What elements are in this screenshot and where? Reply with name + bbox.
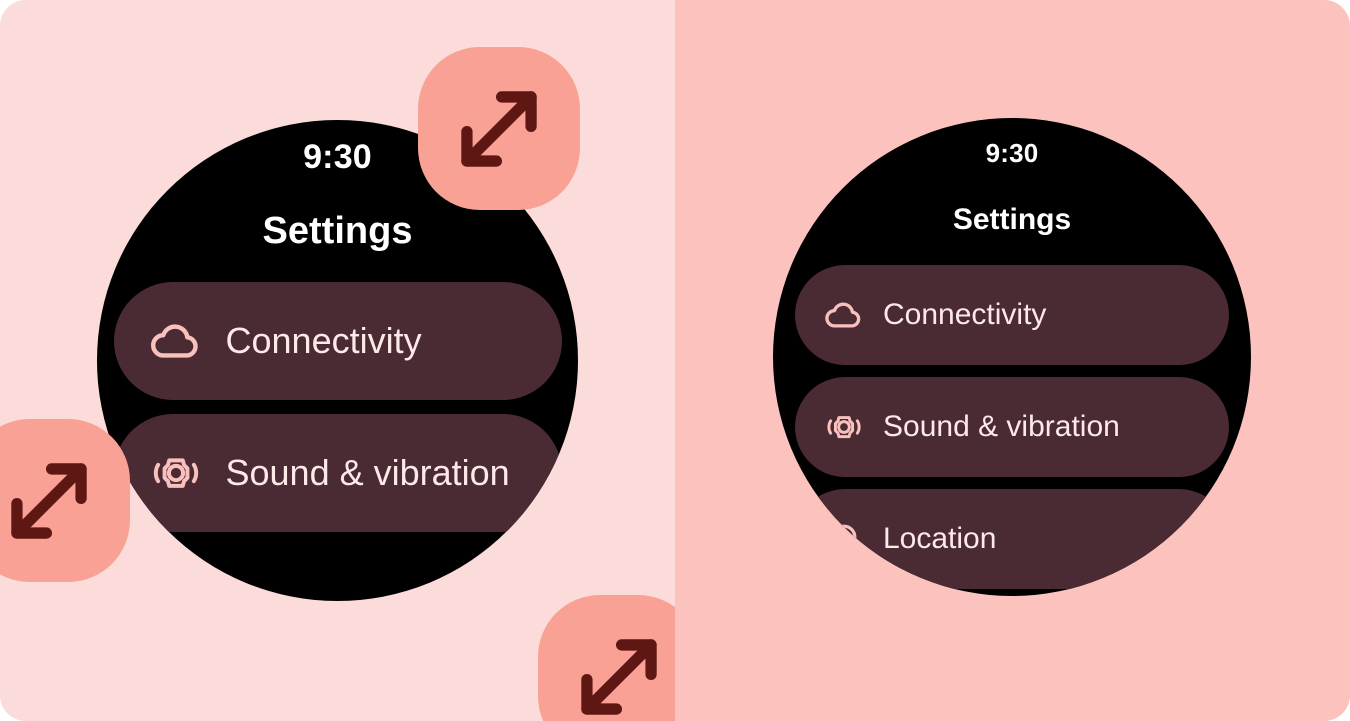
resize-diagonal-icon <box>0 449 101 553</box>
left-panel: 9:30 Settings Connectivity <box>0 0 675 721</box>
list-item-location[interactable]: Location <box>795 489 1229 589</box>
list-item-label: Sound & vibration <box>226 452 510 494</box>
settings-list: Connectivity Sound & vibration <box>773 265 1251 589</box>
list-item-connectivity[interactable]: Connectivity <box>795 265 1229 365</box>
location-pin-icon <box>823 518 865 560</box>
list-item-label: Connectivity <box>226 320 422 362</box>
cloud-icon <box>823 294 865 336</box>
watch-vibration-icon <box>148 445 204 501</box>
list-item-label: Location <box>883 521 996 556</box>
page-title: Settings <box>953 205 1071 235</box>
resize-diagonal-icon <box>567 625 671 721</box>
list-item-sound-vibration[interactable]: Sound & vibration <box>795 377 1229 477</box>
page-title: Settings <box>263 212 413 250</box>
resize-badge-left[interactable] <box>0 419 130 582</box>
watch-screen: 9:30 Settings Connectivity <box>773 118 1251 596</box>
list-item-connectivity[interactable]: Connectivity <box>114 282 562 400</box>
watch-preview-small[interactable]: 9:30 Settings Connectivity <box>773 118 1251 596</box>
cloud-icon <box>148 313 204 369</box>
settings-list: Connectivity Sound & vibration <box>97 282 578 532</box>
status-time: 9:30 <box>986 140 1039 166</box>
list-item-sound-vibration[interactable]: Sound & vibration <box>114 414 562 532</box>
watch-vibration-icon <box>823 406 865 448</box>
list-item-label: Connectivity <box>883 297 1046 332</box>
resize-badge-bottom[interactable] <box>538 595 675 721</box>
list-item-label: Sound & vibration <box>883 409 1120 444</box>
status-time: 9:30 <box>303 140 372 174</box>
resize-diagonal-icon <box>447 77 551 181</box>
comparison-canvas: 9:30 Settings Connectivity <box>0 0 1350 721</box>
resize-badge-top[interactable] <box>418 47 580 210</box>
right-panel: 9:30 Settings Connectivity <box>675 0 1350 721</box>
